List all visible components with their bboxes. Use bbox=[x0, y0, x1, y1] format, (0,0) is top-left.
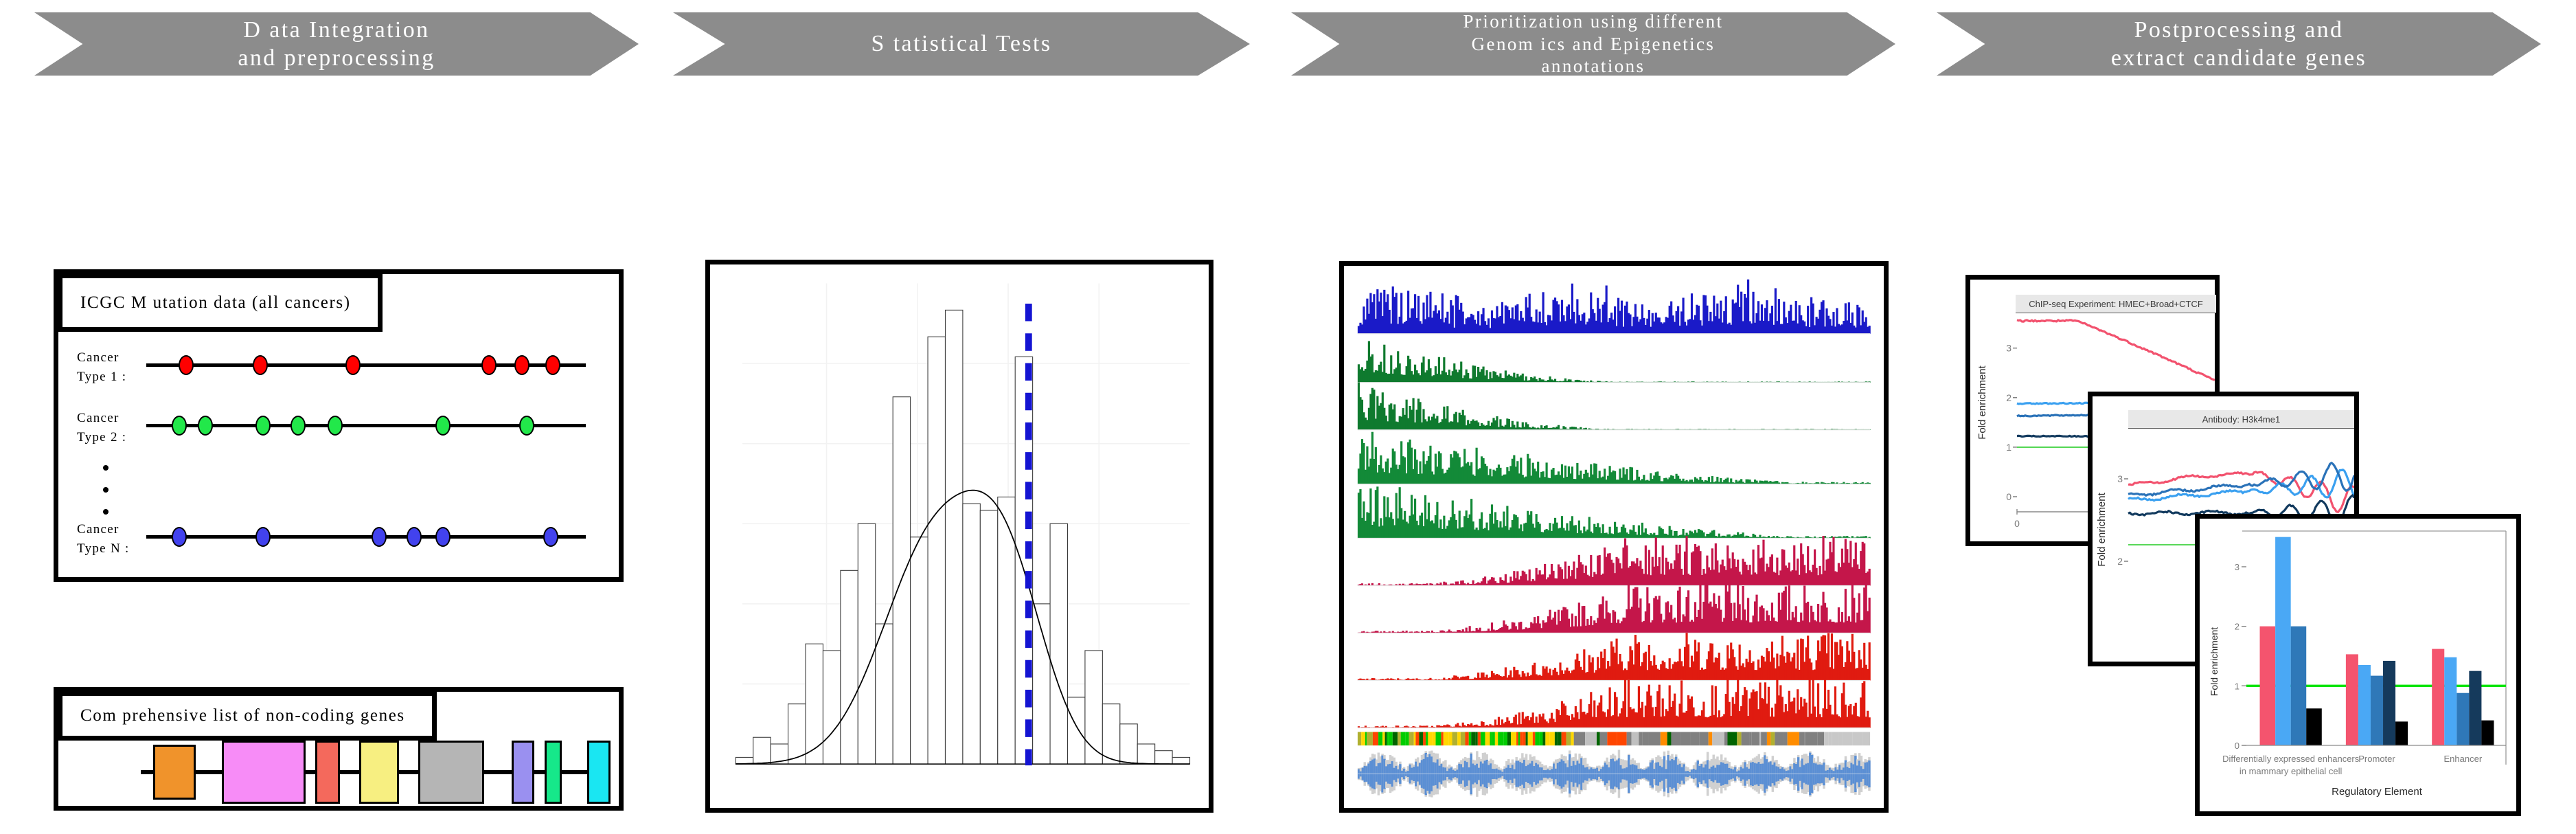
bar-black[interactable] bbox=[2306, 708, 2322, 745]
ellipsis-dot bbox=[103, 509, 109, 515]
antibody-y-axis-label: Fold enrichment bbox=[2096, 492, 2108, 566]
track-red-1 bbox=[1358, 633, 1871, 680]
chipseq-x-tick: 0 bbox=[2014, 518, 2020, 529]
bar-pink[interactable] bbox=[2260, 627, 2276, 745]
mutation-marker[interactable] bbox=[435, 416, 451, 436]
workflow-step-4[interactable]: Postprocessing and extract candidate gen… bbox=[1937, 12, 2541, 76]
mutation-marker[interactable] bbox=[328, 416, 343, 436]
bar-pink[interactable] bbox=[2432, 649, 2444, 745]
track-green-1 bbox=[1358, 341, 1871, 382]
gene-block-5[interactable] bbox=[418, 741, 484, 804]
mutation-marker[interactable] bbox=[255, 416, 271, 436]
regulatory-y-tick: 3 bbox=[2235, 562, 2239, 572]
regulatory-x-tick-label: Promoter bbox=[2358, 754, 2395, 764]
track-dense-blue bbox=[1358, 280, 1871, 334]
mutation-marker[interactable] bbox=[543, 527, 558, 547]
track-red-2 bbox=[1358, 678, 1871, 728]
mutation-marker[interactable] bbox=[255, 527, 271, 547]
track-crimson-1 bbox=[1358, 536, 1871, 585]
mutation-marker[interactable] bbox=[481, 355, 497, 375]
chipseq-y-tick: 3 bbox=[2006, 343, 2011, 354]
workflow-step-4-line1: Postprocessing and bbox=[2111, 16, 2367, 44]
mutation-marker[interactable] bbox=[345, 355, 361, 375]
mutation-marker[interactable] bbox=[514, 355, 529, 375]
bar-lightblue[interactable] bbox=[2275, 537, 2291, 745]
noncoding-genes-title: Com prehensive list of non-coding genes bbox=[58, 691, 437, 741]
workflow-step-2[interactable]: S tatistical Tests bbox=[673, 12, 1250, 76]
mutation-marker[interactable] bbox=[372, 527, 387, 547]
bar-darkblue[interactable] bbox=[2383, 661, 2395, 745]
cancer-type-label-line1: Cancer bbox=[77, 348, 126, 368]
mutation-track-1 bbox=[146, 363, 586, 367]
regulatory-x-tick-label: Differentially expressed enhancers bbox=[2222, 754, 2360, 764]
bar-lightblue[interactable] bbox=[2358, 665, 2371, 745]
track-green-3 bbox=[1358, 432, 1871, 484]
cancer-type-label-1: CancerType 1 : bbox=[77, 348, 126, 386]
track-chromatin-states bbox=[1358, 732, 1870, 745]
track-green-2 bbox=[1358, 383, 1871, 430]
cancer-type-label-2: CancerType 2 : bbox=[77, 409, 126, 447]
antibody-y-tick: 3 bbox=[2117, 473, 2123, 484]
workflow-step-3-line1: Prioritization using different bbox=[1463, 10, 1724, 33]
gene-block-7[interactable] bbox=[545, 741, 562, 804]
mutation-track-3 bbox=[146, 535, 586, 539]
cancer-type-label-line1: Cancer bbox=[77, 409, 126, 428]
gene-block-2[interactable] bbox=[222, 741, 306, 804]
workflow-step-4-line2: extract candidate genes bbox=[2111, 44, 2367, 72]
workflow-step-1-line1: D ata Integration bbox=[238, 16, 435, 44]
gene-block-3[interactable] bbox=[315, 741, 340, 804]
mutation-marker[interactable] bbox=[519, 416, 534, 436]
ellipsis-dot bbox=[103, 465, 109, 471]
chipseq-y-axis-label: Fold enrichment bbox=[1976, 365, 1988, 439]
workflow-step-3[interactable]: Prioritization using different Genom ics… bbox=[1291, 12, 1895, 76]
cancer-type-label-line2: Type 2 : bbox=[77, 428, 126, 447]
chipseq-y-tick: 2 bbox=[2006, 392, 2011, 403]
mutation-marker[interactable] bbox=[172, 416, 187, 436]
bar-black[interactable] bbox=[2481, 721, 2494, 745]
cancer-type-label-line2: Type N : bbox=[77, 539, 130, 559]
bar-lightblue[interactable] bbox=[2444, 657, 2457, 745]
workflow-step-1-line2: and preprocessing bbox=[238, 44, 435, 72]
gene-block-6[interactable] bbox=[512, 741, 534, 804]
bar-darkblue[interactable] bbox=[2469, 671, 2481, 745]
histogram-panel bbox=[705, 260, 1213, 813]
track-conservation bbox=[1358, 750, 1871, 798]
mutation-marker[interactable] bbox=[198, 416, 213, 436]
workflow-step-3-line3: annotations bbox=[1463, 55, 1724, 78]
mutation-marker[interactable] bbox=[290, 416, 306, 436]
workflow-step-1[interactable]: D ata Integration and preprocessing bbox=[34, 12, 639, 76]
antibody-card-header: Antibody: H3k4me1 bbox=[2128, 410, 2354, 429]
mutation-marker[interactable] bbox=[545, 355, 560, 375]
series-pink bbox=[2017, 320, 2215, 381]
gene-block-4[interactable] bbox=[359, 741, 399, 804]
bar-midblue[interactable] bbox=[2457, 693, 2469, 745]
workflow-step-2-line1: S tatistical Tests bbox=[871, 30, 1051, 58]
gene-block-8[interactable] bbox=[587, 741, 611, 804]
regulatory-element-card[interactable]: Fold enrichment0123Differentially expres… bbox=[2195, 514, 2521, 816]
bar-midblue[interactable] bbox=[2291, 627, 2307, 745]
regulatory-x-axis-label: Regulatory Element bbox=[2332, 786, 2423, 798]
bar-black[interactable] bbox=[2395, 721, 2408, 745]
mutation-marker[interactable] bbox=[253, 355, 268, 375]
mutation-marker[interactable] bbox=[172, 527, 187, 547]
mutation-data-title: ICGC M utation data (all cancers) bbox=[58, 273, 383, 332]
bar-midblue[interactable] bbox=[2371, 676, 2383, 745]
ellipsis-dots bbox=[103, 465, 109, 531]
regulatory-y-tick: 0 bbox=[2235, 741, 2239, 751]
noncoding-genes-panel: Com prehensive list of non-coding genes bbox=[54, 687, 624, 811]
mutation-data-panel: ICGC M utation data (all cancers) Cancer… bbox=[54, 269, 624, 582]
cancer-type-label-line2: Type 1 : bbox=[77, 368, 126, 387]
regulatory-y-tick: 2 bbox=[2235, 622, 2239, 632]
regulatory-x-tick-label: Enhancer bbox=[2444, 754, 2483, 764]
genome-browser-tracks bbox=[1354, 273, 1874, 801]
mutation-track-2 bbox=[146, 424, 586, 427]
mutation-marker[interactable] bbox=[179, 355, 194, 375]
gene-block-1[interactable] bbox=[153, 745, 196, 800]
workflow-step-3-line2: Genom ics and Epigenetics bbox=[1463, 33, 1724, 56]
mutation-marker[interactable] bbox=[407, 527, 422, 547]
mutation-marker[interactable] bbox=[435, 527, 451, 547]
chipseq-y-tick: 0 bbox=[2006, 491, 2011, 502]
regulatory-y-axis-label: Fold enrichment bbox=[2209, 627, 2220, 696]
ellipsis-dot bbox=[103, 487, 109, 493]
track-green-4 bbox=[1358, 486, 1871, 538]
workflow-banner: D ata Integration and preprocessing S ta… bbox=[0, 0, 2576, 86]
bar-pink[interactable] bbox=[2346, 654, 2358, 745]
regulatory-x-tick-label-line2: in mammary epithelial cell bbox=[2239, 766, 2343, 776]
track-crimson-2 bbox=[1358, 583, 1871, 633]
chipseq-card-header: ChIP-seq Experiment: HMEC+Broad+CTCF bbox=[2016, 295, 2216, 313]
regulatory-element-bar-chart: Fold enrichment0123Differentially expres… bbox=[2200, 519, 2516, 811]
regulatory-y-tick: 1 bbox=[2235, 681, 2239, 691]
genome-browser-panel bbox=[1339, 261, 1889, 813]
histogram-chart bbox=[710, 264, 1209, 808]
chipseq-y-tick: 1 bbox=[2006, 442, 2011, 453]
antibody-y-tick: 2 bbox=[2117, 556, 2123, 567]
